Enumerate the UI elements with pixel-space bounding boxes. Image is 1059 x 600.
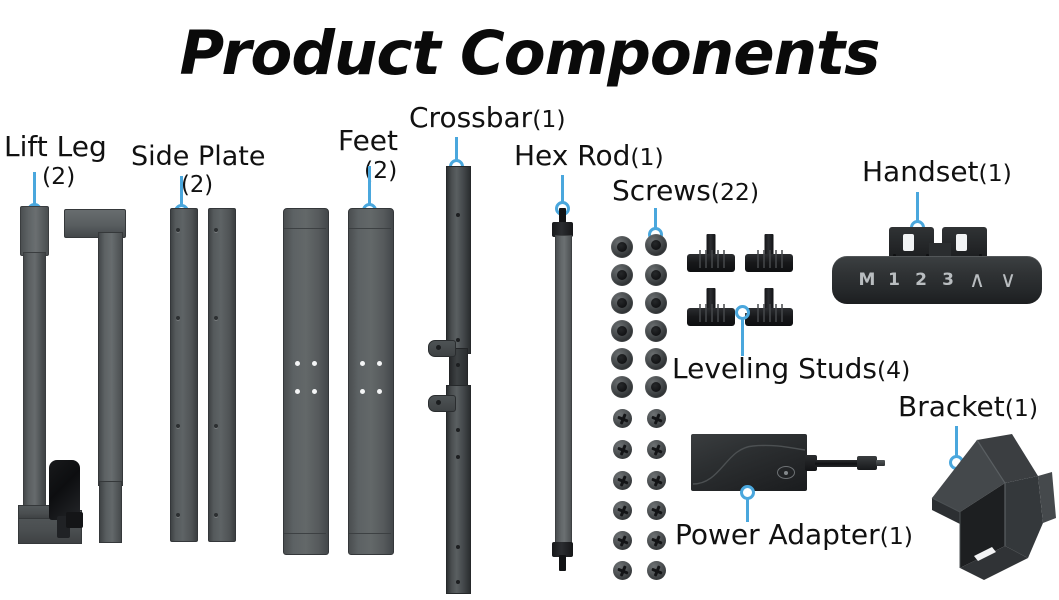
label-lift-leg: Lift Leg (2): [4, 133, 107, 189]
screw-phillips: [647, 409, 666, 428]
handset-key-preset-1[interactable]: 1: [883, 270, 905, 290]
screw-phillips: [613, 409, 632, 428]
power-adapter-body: [691, 434, 807, 491]
label-lift-leg-qty: (2): [42, 165, 75, 189]
label-handset: Handset(1): [862, 157, 1012, 186]
screw-hex: [645, 320, 667, 342]
screw-phillips: [613, 471, 632, 490]
label-bracket: Bracket(1): [898, 392, 1038, 421]
screw-hex: [645, 376, 667, 398]
label-feet-text: Feet: [338, 124, 398, 157]
page-title: Product Components: [0, 18, 1059, 89]
label-hex-rod-text: Hex Rod: [514, 139, 630, 172]
screw-phillips: [613, 531, 632, 550]
crossbar-tab-upper: [428, 340, 456, 357]
label-bracket-qty: (1): [1005, 394, 1038, 422]
screw-phillips: [613, 501, 632, 520]
label-screws-text: Screws: [612, 174, 711, 207]
bracket-shape-icon: [922, 428, 1057, 580]
label-leveling-studs-text: Leveling Studs: [672, 352, 877, 385]
handset-key-memory[interactable]: M: [856, 270, 878, 290]
leader-handset: [916, 192, 919, 222]
handset-key-up-icon[interactable]: ∧: [964, 268, 990, 293]
screw-phillips: [647, 501, 666, 520]
label-power-adapter: Power Adapter(1): [675, 520, 913, 549]
handset-key-preset-3[interactable]: 3: [937, 270, 959, 290]
screw-phillips: [647, 471, 666, 490]
power-adapter-curve-icon: [691, 434, 807, 491]
screw-phillips: [647, 531, 666, 550]
label-handset-text: Handset: [862, 155, 979, 188]
label-leveling-studs: Leveling Studs(4): [672, 354, 910, 383]
label-hex-rod: Hex Rod(1): [514, 141, 664, 170]
label-handset-qty: (1): [979, 159, 1012, 187]
screw-hex: [645, 264, 667, 286]
diagram-canvas: Product Components Lift Leg (2) Side Pla…: [0, 0, 1059, 600]
handset-key-down-icon[interactable]: ∨: [995, 268, 1021, 293]
screw-hex: [611, 376, 633, 398]
screw-phillips: [647, 561, 666, 580]
crossbar-tab-lower: [428, 395, 456, 412]
label-power-adapter-qty: (1): [880, 522, 913, 550]
screw-phillips: [647, 440, 666, 459]
label-screws: Screws(22): [612, 176, 759, 205]
part-bracket: [922, 428, 1057, 580]
label-side-plate: Side Plate (2): [131, 143, 266, 197]
screw-hex: [611, 348, 633, 370]
screw-phillips: [613, 561, 632, 580]
handset-keypad[interactable]: M 1 2 3 ∧ ∨: [856, 268, 1021, 292]
leader-leveling-studs: [741, 318, 744, 356]
label-crossbar: Crossbar(1): [409, 103, 566, 132]
screw-phillips: [613, 440, 632, 459]
screw-hex: [611, 292, 633, 314]
leader-feet: [368, 166, 371, 206]
label-crossbar-qty: (1): [532, 105, 565, 133]
label-bracket-text: Bracket: [898, 390, 1005, 423]
screw-hex: [645, 348, 667, 370]
leader-lift-leg: [33, 172, 36, 207]
label-crossbar-text: Crossbar: [409, 101, 532, 134]
screw-hex: [611, 264, 633, 286]
screw-hex: [645, 234, 667, 256]
label-leveling-studs-qty: (4): [877, 356, 910, 384]
label-hex-rod-qty: (1): [630, 143, 663, 171]
label-side-plate-qty: (2): [181, 174, 213, 197]
screw-hex: [611, 320, 633, 342]
label-screws-qty: (22): [711, 178, 759, 206]
power-adapter-led-icon: [777, 466, 795, 479]
label-side-plate-text: Side Plate: [131, 141, 266, 172]
handset-key-preset-2[interactable]: 2: [910, 270, 932, 290]
lift-leg-motor: [49, 460, 80, 520]
label-lift-leg-text: Lift Leg: [4, 130, 107, 163]
screw-hex: [611, 236, 633, 258]
screw-hex: [645, 292, 667, 314]
label-power-adapter-text: Power Adapter: [675, 518, 880, 551]
